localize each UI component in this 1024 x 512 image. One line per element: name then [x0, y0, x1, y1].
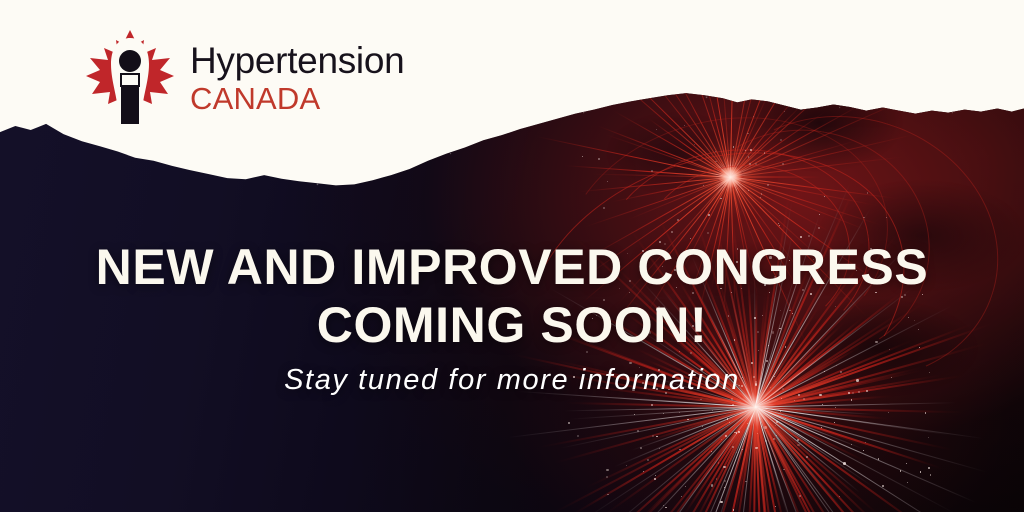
firework-spark: [659, 448, 660, 449]
firework-spark: [577, 435, 579, 437]
firework-spark: [757, 433, 758, 434]
firework-spark: [818, 227, 820, 229]
firework-spark: [732, 446, 734, 448]
firework-spark: [764, 426, 767, 429]
firework-spark: [806, 456, 808, 458]
firework-spark: [654, 478, 656, 480]
firework-spark: [878, 458, 879, 459]
firework-spark: [651, 404, 653, 406]
firework-spark: [778, 223, 779, 224]
firework-spark: [724, 480, 726, 482]
firework-spark: [598, 158, 600, 160]
brand-title: Hypertension: [190, 42, 404, 79]
firework-spark: [721, 439, 722, 440]
brand-logo: Hypertension CANADA: [84, 28, 404, 124]
firework-spark: [723, 466, 726, 469]
firework-spark: [834, 422, 835, 423]
firework-spark: [821, 427, 822, 428]
firework-spark: [685, 486, 686, 487]
firework-spark: [775, 425, 776, 426]
firework-spark: [761, 193, 762, 194]
firework-spark: [835, 407, 836, 408]
firework-spark: [822, 404, 823, 405]
firework-spark: [729, 422, 730, 423]
firework-spark: [640, 447, 642, 449]
firework-spark: [819, 214, 820, 215]
firework-spark: [732, 404, 734, 406]
headline-line-1: NEW AND IMPROVED CONGRESS: [0, 238, 1024, 296]
firework-spark: [863, 217, 865, 219]
firework-spark: [750, 149, 752, 151]
firework-spark: [679, 412, 680, 413]
firework-spark: [764, 152, 766, 154]
firework-spark: [736, 452, 737, 453]
firework-spark: [738, 431, 740, 433]
headline-line-2: COMING SOON!: [0, 296, 1024, 354]
firework-spark: [663, 505, 665, 507]
firework-spark: [843, 462, 846, 465]
banner-subtitle: Stay tuned for more information: [0, 364, 1024, 397]
firework-spark: [851, 444, 852, 445]
firework-spark: [651, 170, 653, 172]
firework-spark: [824, 196, 826, 198]
brand-wordmark: Hypertension CANADA: [190, 38, 404, 114]
firework-spark: [766, 360, 768, 362]
firework-spark: [708, 214, 710, 216]
maple-leaf-person-icon: [84, 28, 176, 124]
firework-spark: [684, 125, 685, 126]
firework-spark: [603, 207, 605, 209]
firework-spark: [900, 470, 902, 472]
brand-subtitle: CANADA: [190, 83, 404, 114]
firework-spark: [928, 437, 929, 438]
firework-spark: [733, 146, 735, 148]
firework-spark: [652, 435, 654, 437]
firework-spark: [656, 129, 657, 130]
firework-spark: [799, 495, 801, 497]
poster-canvas: Hypertension CANADA NEW AND IMPROVED CON…: [0, 0, 1024, 512]
firework-spark: [780, 411, 781, 412]
firework-spark: [637, 430, 639, 432]
firework-spark: [634, 414, 635, 415]
firework-spark: [748, 156, 750, 158]
firework-spark: [928, 467, 930, 469]
firework-spark: [747, 133, 749, 135]
firework-spark: [626, 465, 627, 466]
firework-spark: [720, 501, 723, 504]
firework-spark: [753, 116, 754, 117]
firework-spark: [797, 444, 800, 447]
firework-spark: [920, 471, 922, 473]
firework-spark: [783, 469, 784, 470]
firework-spark: [755, 163, 757, 165]
firework-spark: [727, 418, 729, 420]
firework-spark: [607, 494, 609, 496]
firework-spark: [865, 442, 866, 443]
firework-spark: [606, 469, 609, 472]
firework-spark: [725, 435, 727, 437]
firework-spark: [681, 496, 682, 497]
